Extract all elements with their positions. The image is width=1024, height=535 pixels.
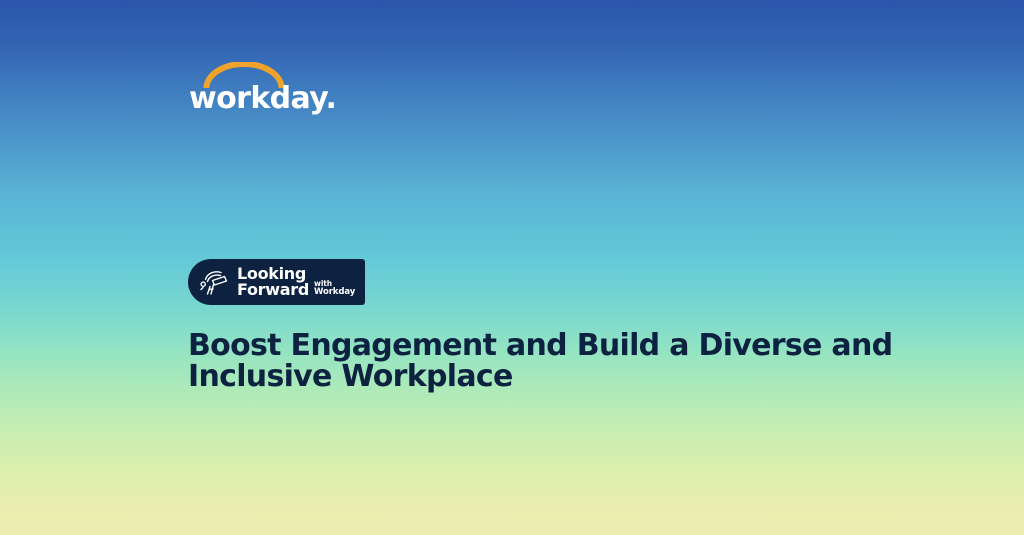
workday-wordmark: workday. <box>189 82 336 116</box>
workday-logo: workday. <box>189 62 307 114</box>
badge-suffix: with Workday <box>314 280 355 299</box>
badge-text-group: Looking Forward with Workday <box>237 266 355 298</box>
presentation-slide: workday. Looking Forward <box>0 0 1024 535</box>
badge-title-line2: Forward <box>237 282 309 298</box>
headline-line-2: Inclusive Workplace <box>188 361 828 392</box>
person-telescope-icon <box>197 265 231 299</box>
badge-title: Looking Forward <box>237 266 309 298</box>
headline-line-1: Boost Engagement and Build a Diverse and <box>188 330 828 361</box>
badge-suffix-workday: Workday <box>314 287 355 297</box>
slide-headline: Boost Engagement and Build a Diverse and… <box>188 330 828 392</box>
looking-forward-badge: Looking Forward with Workday <box>188 259 365 305</box>
